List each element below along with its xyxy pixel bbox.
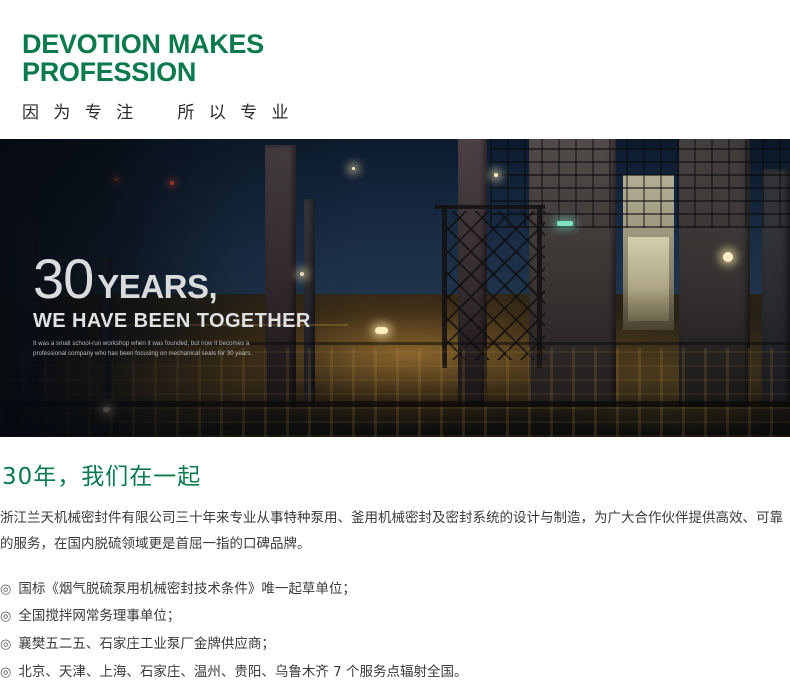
bullet-icon: ◎ (0, 604, 11, 631)
bullet-icon: ◎ (0, 660, 11, 687)
list-item-label: 全国搅拌网常务理事单位； (18, 603, 180, 631)
hero-text-block: 30YEARS, WE HAVE BEEN TOGETHER It was a … (33, 253, 311, 360)
list-item-label: 襄樊五二五、石家庄工业泵厂金牌供应商； (18, 631, 275, 659)
about-section: 30年，我们在一起 浙江兰天机械密封件有限公司三十年来专业从事特种泵用、釜用机械… (0, 437, 790, 686)
list-item-label: 国标《烟气脱硫泵用机械密封技术条件》唯一起草单位； (18, 576, 356, 604)
hero-years-number: 30 (33, 247, 93, 310)
slogan-chinese: 因 为 专 注 所 以 专 业 (22, 98, 790, 123)
list-item: ◎ 襄樊五二五、石家庄工业泵厂金牌供应商； (0, 631, 790, 659)
list-item: ◎ 全国搅拌网常务理事单位； (0, 603, 790, 631)
list-item: ◎ 国标《烟气脱硫泵用机械密封技术条件》唯一起草单位； (0, 576, 790, 604)
hero-banner: 30YEARS, WE HAVE BEEN TOGETHER It was a … (0, 139, 790, 437)
page-header: DEVOTION MAKES PROFESSION 因 为 专 注 所 以 专 … (0, 0, 790, 123)
hero-description: It was a small school-run workshop when … (33, 339, 278, 361)
hero-subtitle: WE HAVE BEEN TOGETHER (33, 310, 311, 333)
hero-years-word: YEARS, (97, 268, 217, 305)
bullet-icon: ◎ (0, 632, 11, 659)
achievements-list: ◎ 国标《烟气脱硫泵用机械密封技术条件》唯一起草单位； ◎ 全国搅拌网常务理事单… (0, 576, 790, 687)
list-item-label: 北京、天津、上海、石家庄、温州、贵阳、乌鲁木齐 7 个服务点辐射全国。 (18, 659, 467, 687)
list-item: ◎ 北京、天津、上海、石家庄、温州、贵阳、乌鲁木齐 7 个服务点辐射全国。 (0, 659, 790, 687)
about-title: 30年，我们在一起 (2, 457, 790, 491)
about-paragraph: 浙江兰天机械密封件有限公司三十年来专业从事特种泵用、釜用机械密封及密封系统的设计… (0, 505, 786, 558)
bullet-icon: ◎ (0, 577, 11, 604)
slogan-english-line-1: DEVOTION MAKES (22, 29, 264, 59)
slogan-english-line-2: PROFESSION (22, 58, 790, 86)
hero-headline: 30YEARS, (33, 253, 311, 305)
slogan-english: DEVOTION MAKES PROFESSION (22, 30, 790, 87)
